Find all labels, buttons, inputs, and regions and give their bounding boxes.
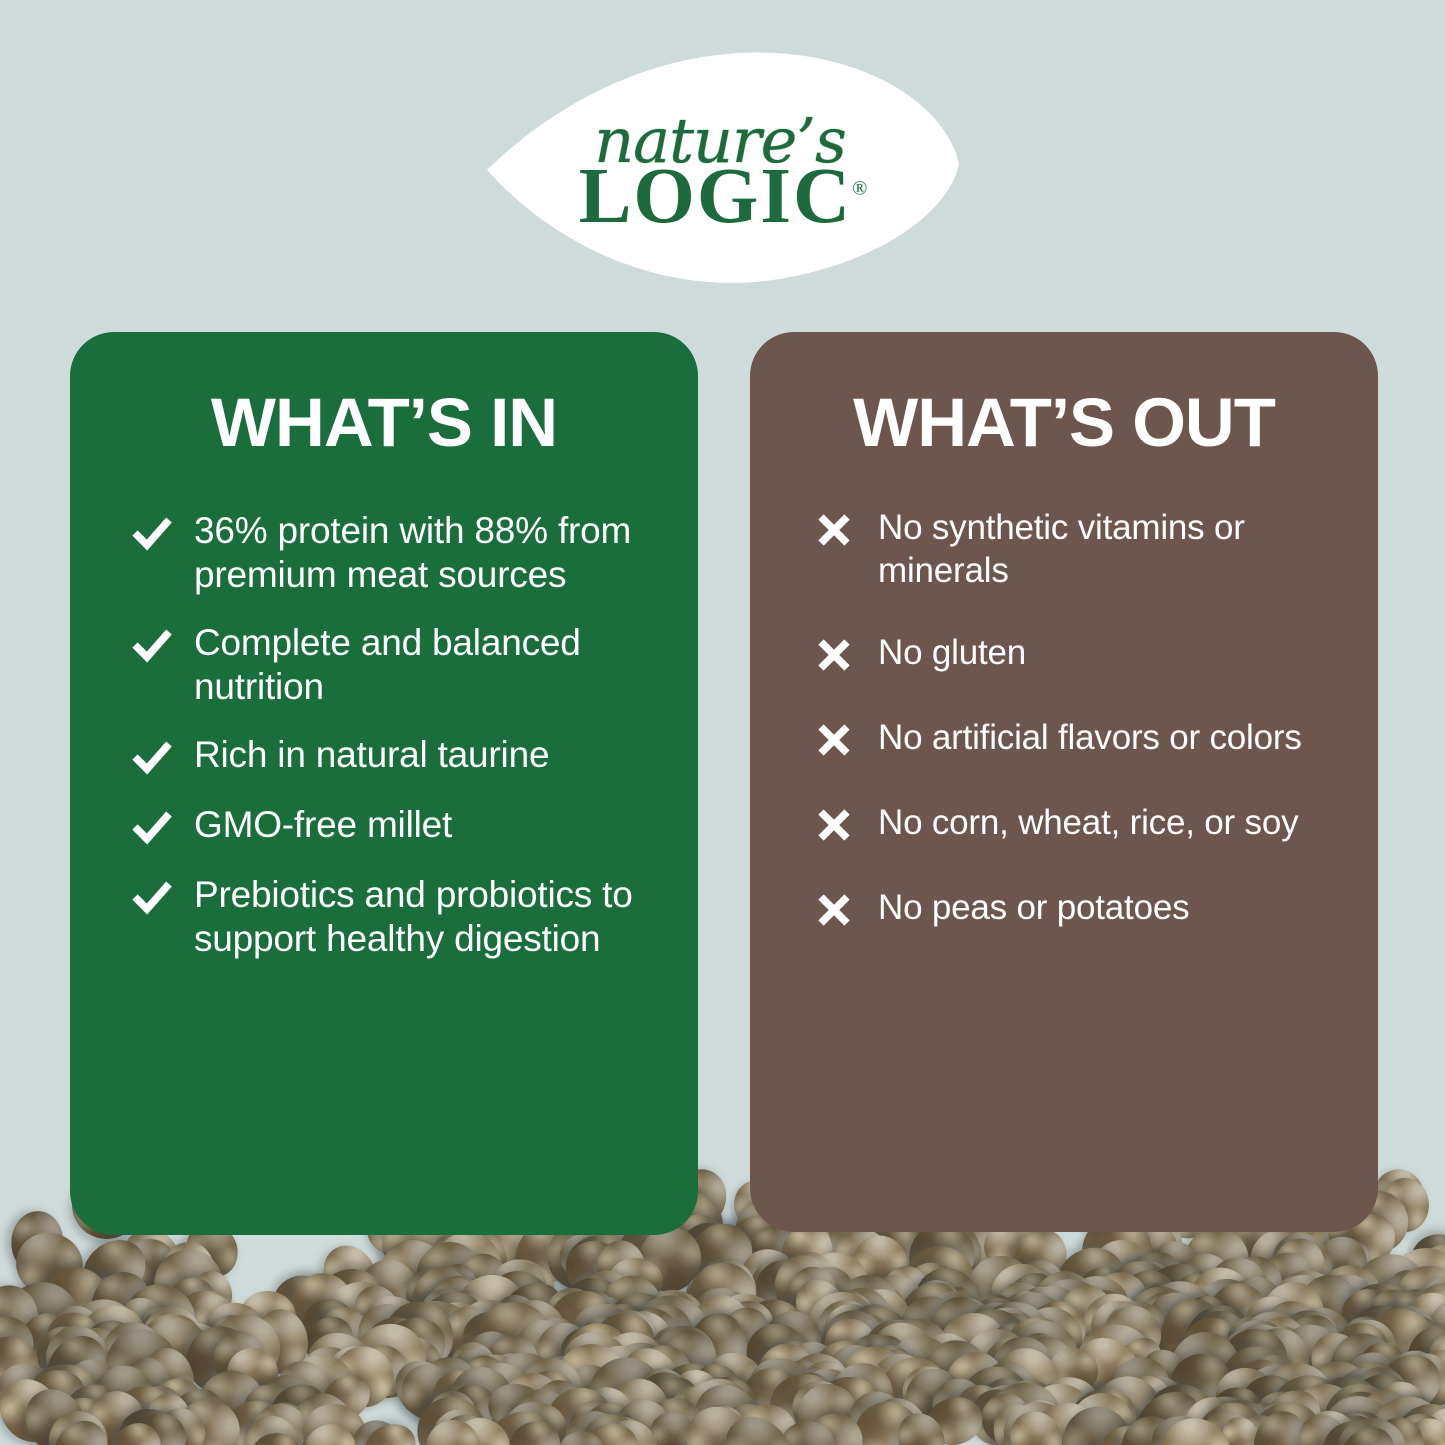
kibble-piece — [1179, 1331, 1244, 1399]
kibble-piece — [1252, 1295, 1324, 1376]
kibble-piece — [313, 1366, 379, 1430]
kibble-piece — [580, 1300, 642, 1356]
kibble-piece — [1231, 1396, 1291, 1445]
kibble-piece — [728, 1397, 805, 1445]
kibble-piece — [798, 1328, 887, 1415]
kibble-piece — [419, 1288, 470, 1342]
kibble-piece — [1238, 1389, 1334, 1445]
kibble-piece — [970, 1324, 1059, 1413]
kibble-piece — [838, 1380, 925, 1445]
kibble-piece — [598, 1310, 658, 1370]
kibble-piece — [928, 1280, 983, 1340]
kibble-piece — [990, 1300, 1059, 1369]
kibble-piece — [126, 1407, 192, 1445]
kibble-piece — [1072, 1283, 1153, 1363]
kibble-piece — [398, 1297, 478, 1368]
kibble-piece — [705, 1298, 780, 1377]
kibble-piece — [1397, 1410, 1445, 1445]
kibble-piece — [238, 1288, 299, 1344]
kibble-piece — [1135, 1267, 1232, 1365]
kibble-piece — [345, 1292, 430, 1378]
kibble-piece — [713, 1404, 804, 1445]
kibble-piece — [218, 1303, 291, 1375]
kibble-piece — [1423, 1248, 1445, 1300]
kibble-piece — [550, 1319, 642, 1410]
kibble-piece — [1387, 1395, 1445, 1445]
kibble-piece — [700, 1393, 789, 1445]
kibble-piece — [589, 1327, 657, 1396]
kibble-piece — [562, 1347, 629, 1412]
kibble-piece — [940, 1346, 1011, 1422]
kibble-piece — [964, 1304, 1034, 1376]
kibble-piece — [348, 1281, 406, 1348]
kibble-piece — [252, 1369, 324, 1445]
kibble-piece — [1084, 1233, 1159, 1309]
kibble-piece — [1244, 1225, 1313, 1297]
kibble-piece — [794, 1355, 860, 1421]
kibble-piece — [1234, 1285, 1317, 1367]
list-item: GMO-free millet — [96, 803, 672, 849]
kibble-piece — [1015, 1335, 1076, 1405]
kibble-piece — [923, 1291, 986, 1344]
kibble-piece — [1166, 1349, 1238, 1420]
kibble-piece — [165, 1314, 233, 1381]
kibble-piece — [1126, 1278, 1188, 1346]
kibble-piece — [482, 1345, 548, 1406]
kibble-piece — [356, 1285, 436, 1362]
kibble-piece — [968, 1302, 1035, 1370]
kibble-piece — [409, 1235, 490, 1317]
kibble-piece — [162, 1242, 214, 1296]
kibble-piece — [497, 1369, 566, 1442]
kibble-piece — [483, 1378, 551, 1438]
kibble-piece — [1154, 1292, 1222, 1359]
kibble-piece — [1177, 1221, 1257, 1302]
kibble-piece — [979, 1307, 1043, 1376]
kibble-piece — [1144, 1232, 1211, 1298]
whats-in-list: 36% protein with 88% from premium meat s… — [96, 509, 672, 961]
kibble-piece — [1316, 1380, 1402, 1445]
kibble-piece — [573, 1378, 643, 1445]
kibble-piece — [1263, 1366, 1349, 1445]
kibble-piece — [1069, 1383, 1141, 1445]
kibble-piece — [1338, 1313, 1400, 1374]
kibble-piece — [293, 1319, 389, 1415]
kibble-piece — [71, 1228, 158, 1314]
kibble-piece — [429, 1299, 486, 1356]
kibble-piece — [218, 1393, 287, 1445]
kibble-piece — [742, 1297, 805, 1353]
kibble-piece — [560, 1273, 626, 1333]
kibble-piece — [1094, 1248, 1184, 1337]
kibble-piece — [1289, 1297, 1361, 1367]
kibble-piece — [183, 1285, 249, 1350]
kibble-piece — [254, 1395, 313, 1445]
kibble-piece — [636, 1229, 693, 1281]
kibble-piece — [853, 1335, 926, 1408]
kibble-piece — [14, 1378, 98, 1445]
kibble-piece — [466, 1288, 567, 1387]
kibble-piece — [119, 1352, 177, 1416]
kibble-piece — [486, 1254, 552, 1322]
kibble-piece — [8, 1224, 91, 1304]
kibble-piece — [1052, 1263, 1143, 1354]
kibble-piece — [1087, 1296, 1156, 1357]
kibble-piece — [391, 1353, 470, 1431]
kibble-piece — [996, 1388, 1084, 1445]
kibble-piece — [1410, 1287, 1445, 1345]
kibble-piece — [1402, 1271, 1445, 1356]
kibble-piece — [1123, 1283, 1186, 1346]
kibble-piece — [574, 1289, 638, 1353]
kibble-piece — [1365, 1285, 1421, 1342]
kibble-piece — [438, 1354, 527, 1443]
kibble-piece — [501, 1413, 568, 1445]
kibble-piece — [682, 1269, 739, 1320]
kibble-piece — [1014, 1331, 1065, 1385]
kibble-piece — [223, 1344, 282, 1402]
x-icon — [812, 718, 856, 762]
kibble-piece — [536, 1377, 622, 1445]
kibble-piece — [777, 1357, 829, 1416]
kibble-piece — [422, 1386, 481, 1445]
kibble-piece — [1369, 1343, 1445, 1421]
kibble-piece — [1228, 1302, 1314, 1387]
kibble-piece — [923, 1368, 994, 1439]
kibble-piece — [951, 1288, 1034, 1367]
kibble-piece — [444, 1336, 506, 1405]
kibble-piece — [776, 1417, 839, 1445]
kibble-piece — [952, 1379, 1007, 1430]
kibble-piece — [521, 1307, 592, 1377]
kibble-piece — [1049, 1393, 1145, 1445]
kibble-piece — [574, 1342, 678, 1445]
kibble-piece — [75, 1268, 142, 1332]
list-item-label: Rich in natural taurine — [194, 733, 549, 777]
kibble-piece — [202, 1297, 269, 1356]
kibble-piece — [36, 1324, 118, 1407]
kibble-piece — [760, 1332, 828, 1401]
kibble-piece — [10, 1303, 84, 1377]
kibble-piece — [424, 1273, 492, 1341]
kibble-piece — [121, 1275, 194, 1348]
kibble-piece — [635, 1366, 710, 1441]
kibble-piece — [1248, 1396, 1320, 1445]
kibble-piece — [0, 1333, 41, 1393]
kibble-piece — [990, 1368, 1071, 1445]
kibble-piece — [551, 1340, 632, 1421]
kibble-piece — [945, 1311, 1003, 1378]
kibble-piece — [251, 1432, 302, 1445]
kibble-piece — [406, 1262, 478, 1338]
kibble-piece — [294, 1291, 367, 1365]
kibble-piece — [1367, 1412, 1429, 1445]
kibble-piece — [324, 1277, 400, 1348]
kibble-piece — [124, 1238, 176, 1286]
kibble-piece — [776, 1367, 839, 1437]
kibble-piece — [1117, 1241, 1194, 1321]
kibble-piece — [808, 1292, 884, 1369]
check-icon — [130, 511, 174, 555]
kibble-piece — [1412, 1271, 1445, 1342]
kibble-piece — [818, 1289, 879, 1355]
kibble-piece — [526, 1311, 603, 1388]
kibble-piece — [1217, 1306, 1291, 1381]
kibble-piece — [140, 1368, 212, 1440]
kibble-piece — [552, 1225, 624, 1291]
kibble-piece — [646, 1304, 697, 1360]
kibble-piece — [766, 1369, 842, 1437]
kibble-piece — [979, 1348, 1044, 1414]
kibble-piece — [1068, 1327, 1150, 1406]
kibble-piece — [607, 1256, 664, 1304]
kibble-piece — [430, 1286, 495, 1361]
kibble-piece — [1101, 1296, 1172, 1363]
kibble-piece — [555, 1230, 630, 1304]
kibble-piece — [1000, 1307, 1092, 1399]
kibble-piece — [784, 1373, 854, 1442]
kibble-piece — [1186, 1318, 1239, 1365]
kibble-piece — [1117, 1276, 1204, 1363]
kibble-piece — [0, 1303, 48, 1399]
kibble-piece — [570, 1413, 649, 1445]
kibble-piece — [944, 1297, 996, 1352]
kibble-piece — [693, 1258, 757, 1328]
kibble-piece — [948, 1349, 1011, 1414]
kibble-piece — [732, 1238, 813, 1317]
kibble-piece — [852, 1327, 915, 1393]
kibble-piece — [1302, 1275, 1367, 1340]
kibble-piece — [674, 1305, 758, 1389]
kibble-piece — [841, 1278, 924, 1361]
kibble-piece — [582, 1270, 635, 1330]
kibble-piece — [1008, 1257, 1063, 1319]
kibble-piece — [1021, 1364, 1113, 1445]
kibble-piece — [826, 1302, 905, 1381]
kibble-piece — [1189, 1307, 1253, 1374]
kibble-piece — [176, 1315, 264, 1404]
kibble-piece — [1209, 1384, 1264, 1433]
kibble-piece — [742, 1350, 824, 1424]
kibble-piece — [1015, 1275, 1096, 1354]
kibble-piece — [266, 1268, 334, 1333]
kibble-piece — [1264, 1408, 1320, 1445]
kibble-piece — [1364, 1300, 1443, 1377]
kibble-piece — [1078, 1262, 1159, 1347]
kibble-piece — [755, 1304, 823, 1373]
kibble-piece — [441, 1243, 518, 1322]
kibble-piece — [825, 1222, 897, 1295]
kibble-piece — [1214, 1266, 1293, 1344]
kibble-piece — [1186, 1392, 1275, 1445]
kibble-piece — [1021, 1294, 1092, 1364]
kibble-piece — [915, 1333, 997, 1416]
kibble-piece — [1268, 1267, 1344, 1341]
kibble-piece — [1176, 1288, 1235, 1346]
kibble-piece — [1267, 1311, 1360, 1404]
kibble-piece — [860, 1310, 949, 1398]
kibble-piece — [842, 1225, 918, 1301]
kibble-piece — [424, 1227, 489, 1300]
kibble-piece — [457, 1305, 520, 1364]
kibble-piece — [1235, 1369, 1308, 1442]
kibble-piece — [325, 1338, 402, 1416]
kibble-piece — [948, 1353, 1046, 1445]
kibble-piece — [1229, 1357, 1295, 1425]
list-item: No synthetic vitamins or minerals — [776, 507, 1352, 592]
kibble-piece — [1222, 1312, 1297, 1385]
kibble-piece — [1293, 1399, 1374, 1445]
kibble-piece — [313, 1237, 386, 1315]
check-icon — [130, 875, 174, 919]
kibble-piece — [488, 1345, 566, 1419]
kibble-piece — [26, 1316, 98, 1388]
kibble-piece — [1420, 1290, 1445, 1370]
kibble-piece — [632, 1386, 716, 1445]
kibble-piece — [42, 1411, 117, 1445]
kibble-piece — [1114, 1409, 1188, 1445]
kibble-piece — [889, 1405, 954, 1445]
kibble-piece — [1328, 1402, 1395, 1445]
kibble-piece — [1388, 1284, 1443, 1345]
kibble-piece — [449, 1348, 514, 1415]
kibble-piece — [301, 1422, 360, 1445]
kibble-piece — [734, 1359, 807, 1430]
kibble-piece — [497, 1302, 551, 1357]
kibble-piece — [559, 1431, 606, 1445]
kibble-piece — [849, 1334, 896, 1384]
kibble-piece — [968, 1387, 1025, 1445]
kibble-piece — [1013, 1280, 1071, 1341]
kibble-piece — [0, 1278, 46, 1365]
kibble-piece — [1028, 1270, 1117, 1350]
kibble-piece — [1170, 1245, 1245, 1323]
kibble-piece — [1177, 1254, 1269, 1348]
kibble-piece — [144, 1392, 193, 1445]
kibble-piece — [1334, 1414, 1411, 1445]
list-item: No peas or potatoes — [776, 887, 1352, 932]
kibble-piece — [693, 1373, 759, 1436]
kibble-piece — [1341, 1242, 1438, 1337]
kibble-piece — [573, 1332, 669, 1427]
kibble-piece — [1108, 1329, 1171, 1394]
kibble-piece — [1400, 1282, 1445, 1354]
kibble-piece — [72, 1309, 151, 1388]
kibble-piece — [1217, 1414, 1264, 1445]
kibble-piece — [66, 1292, 160, 1386]
kibble-piece — [503, 1400, 569, 1445]
kibble-piece — [1142, 1380, 1220, 1445]
kibble-piece — [699, 1295, 759, 1355]
kibble-piece — [1014, 1298, 1092, 1372]
kibble-piece — [973, 1301, 1036, 1365]
kibble-piece — [626, 1335, 701, 1410]
kibble-piece — [583, 1403, 649, 1445]
kibble-piece — [574, 1393, 648, 1445]
kibble-piece — [489, 1290, 544, 1348]
kibble-piece — [798, 1242, 878, 1319]
kibble-piece — [375, 1309, 453, 1382]
kibble-piece — [1030, 1385, 1079, 1431]
kibble-piece — [1329, 1416, 1405, 1445]
x-icon — [812, 633, 856, 677]
kibble-piece — [788, 1377, 866, 1445]
kibble-piece — [426, 1363, 488, 1423]
kibble-piece — [1080, 1362, 1175, 1445]
kibble-piece — [968, 1254, 1035, 1316]
kibble-piece — [901, 1243, 978, 1320]
kibble-piece — [455, 1321, 526, 1393]
kibble-piece — [1314, 1229, 1379, 1295]
kibble-piece — [1387, 1342, 1445, 1420]
kibble-piece — [699, 1343, 772, 1413]
kibble-piece — [893, 1357, 973, 1437]
kibble-piece — [677, 1367, 764, 1445]
kibble-piece — [682, 1275, 771, 1363]
kibble-piece — [1321, 1409, 1382, 1445]
kibble-piece — [357, 1300, 421, 1363]
kibble-piece — [482, 1251, 562, 1326]
kibble-piece — [298, 1417, 363, 1445]
kibble-piece — [660, 1360, 731, 1431]
kibble-piece — [236, 1303, 304, 1374]
kibble-piece — [1073, 1387, 1123, 1441]
kibble-piece — [1308, 1265, 1384, 1339]
kibble-piece — [1425, 1328, 1445, 1391]
kibble-piece — [1262, 1361, 1333, 1430]
kibble-piece — [1140, 1258, 1219, 1333]
kibble-piece — [553, 1320, 616, 1381]
kibble-piece — [1217, 1246, 1292, 1322]
kibble-piece — [431, 1259, 482, 1316]
kibble-piece — [1378, 1395, 1443, 1445]
kibble-piece — [998, 1396, 1079, 1445]
kibble-piece — [1310, 1369, 1411, 1445]
kibble-piece — [1378, 1391, 1445, 1445]
kibble-piece — [1133, 1341, 1198, 1407]
kibble-piece — [1251, 1379, 1333, 1445]
kibble-piece — [543, 1285, 599, 1344]
kibble-piece — [1045, 1236, 1136, 1325]
kibble-piece — [739, 1252, 805, 1318]
kibble-piece — [270, 1355, 337, 1428]
kibble-piece — [894, 1359, 962, 1430]
kibble-piece — [1193, 1278, 1261, 1345]
kibble-piece — [1212, 1363, 1280, 1428]
kibble-piece — [1067, 1314, 1162, 1407]
kibble-piece — [1110, 1260, 1188, 1338]
kibble-piece — [438, 1406, 521, 1445]
kibble-piece — [1150, 1288, 1237, 1376]
kibble-piece — [823, 1281, 899, 1359]
kibble-piece — [1394, 1312, 1445, 1406]
kibble-piece — [609, 1338, 693, 1427]
kibble-piece — [1206, 1398, 1261, 1445]
kibble-piece — [1382, 1341, 1445, 1408]
kibble-piece — [818, 1376, 881, 1428]
kibble-piece — [343, 1410, 411, 1445]
kibble-piece — [299, 1343, 362, 1400]
kibble-piece — [16, 1360, 95, 1436]
kibble-piece — [995, 1261, 1072, 1338]
kibble-piece — [429, 1407, 504, 1445]
kibble-piece — [627, 1288, 715, 1374]
kibble-piece — [991, 1283, 1057, 1346]
kibble-piece — [384, 1349, 468, 1432]
kibble-piece — [861, 1390, 939, 1445]
kibble-piece — [1350, 1334, 1416, 1400]
kibble-piece — [899, 1272, 975, 1349]
